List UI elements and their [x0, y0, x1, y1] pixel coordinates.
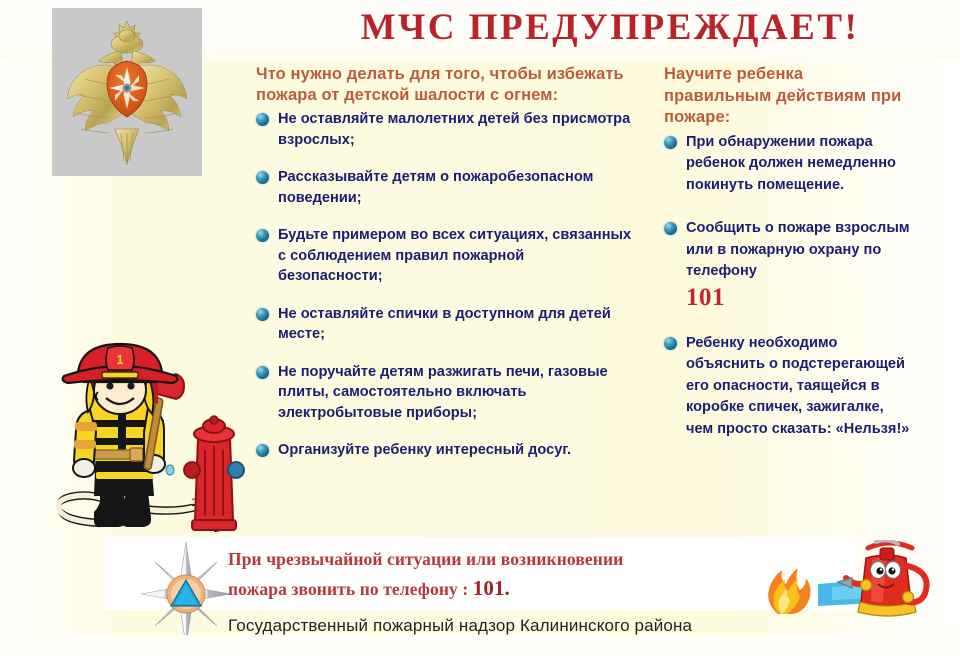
fire-extinguisher-mascot-illustration [748, 540, 938, 618]
left-column-bullets: Не оставляйте малолетних детей без присм… [256, 109, 632, 461]
list-item: Не оставляйте малолетних детей без присм… [256, 109, 632, 150]
list-item: При обнаружении пожара ребенок должен не… [664, 132, 914, 197]
list-item: Сообщить о пожаре взрослым или в пожарну… [664, 218, 914, 311]
bullet-dot-icon [256, 113, 269, 126]
emergency-phone-number: 101 [686, 284, 914, 311]
list-item-text: Не оставляйте спички в доступном для дет… [278, 306, 611, 343]
bullet-dot-icon [664, 136, 677, 149]
bullet-dot-icon [256, 229, 269, 242]
footer-line-2-prefix: пожара звонить по телефону : [228, 579, 473, 599]
list-item-text: Рассказывайте детям о пожаробезопасном п… [278, 169, 593, 206]
helmet-number: 1 [116, 352, 123, 367]
left-column: Что нужно делать для того, чтобы избежат… [256, 64, 632, 461]
list-item-text: Организуйте ребенку интересный досуг. [278, 442, 571, 458]
left-column-heading: Что нужно делать для того, чтобы избежат… [256, 64, 632, 106]
bullet-dot-icon [664, 222, 677, 235]
bullet-dot-icon [256, 308, 269, 321]
list-item: Ребенку необходимо объяснить о подстерег… [664, 333, 914, 441]
right-column-heading: Научите ребенка правильным действиям при… [664, 64, 914, 129]
list-item-text: Сообщить о пожаре взрослым или в пожарну… [686, 220, 910, 279]
list-item: Будьте примером во всех ситуациях, связа… [256, 225, 632, 287]
poster-title: МЧС ПРЕДУПРЕЖДАЕТ! [300, 6, 920, 49]
footer-phone-number: 101. [473, 576, 510, 600]
fire-safety-poster: МЧС ПРЕДУПРЕЖДАЕТ! Что нужно делать для … [0, 0, 960, 659]
bullet-dot-icon [256, 366, 269, 379]
mchs-eagle-emblem [52, 8, 202, 176]
right-column-bullets: При обнаружении пожара ребенок должен не… [664, 132, 914, 441]
right-column: Научите ребенка правильным действиям при… [664, 64, 914, 440]
list-item: Организуйте ребенку интересный досуг. [256, 440, 632, 461]
list-item: Рассказывайте детям о пожаробезопасном п… [256, 167, 632, 208]
firefighter-kid-illustration: 1 [42, 342, 257, 538]
list-item-text: При обнаружении пожара ребенок должен не… [686, 134, 896, 193]
fire-hydrant-icon [184, 416, 244, 530]
list-item: Не поручайте детям разжигать печи, газов… [256, 362, 632, 424]
list-item-text: Будьте примером во всех ситуациях, связа… [278, 227, 631, 284]
bullet-dot-icon [256, 171, 269, 184]
list-item-text: Не поручайте детям разжигать печи, газов… [278, 364, 608, 421]
footer-organization: Государственный пожарный надзор Калининс… [228, 616, 692, 636]
bullet-dot-icon [664, 337, 677, 350]
bullet-dot-icon [256, 444, 269, 457]
list-item-text: Ребенку необходимо объяснить о подстерег… [686, 335, 909, 437]
list-item-text: Не оставляйте малолетних детей без присм… [278, 111, 630, 148]
flame-icon [768, 568, 810, 614]
footer-call-text: При чрезвычайной ситуации или возникнове… [228, 545, 788, 604]
list-item: Не оставляйте спички в доступном для дет… [256, 304, 632, 345]
footer-line-1: При чрезвычайной ситуации или возникнове… [228, 545, 788, 574]
footer-line-2: пожара звонить по телефону : 101. [228, 574, 788, 604]
mchs-star-emblem [139, 540, 233, 648]
